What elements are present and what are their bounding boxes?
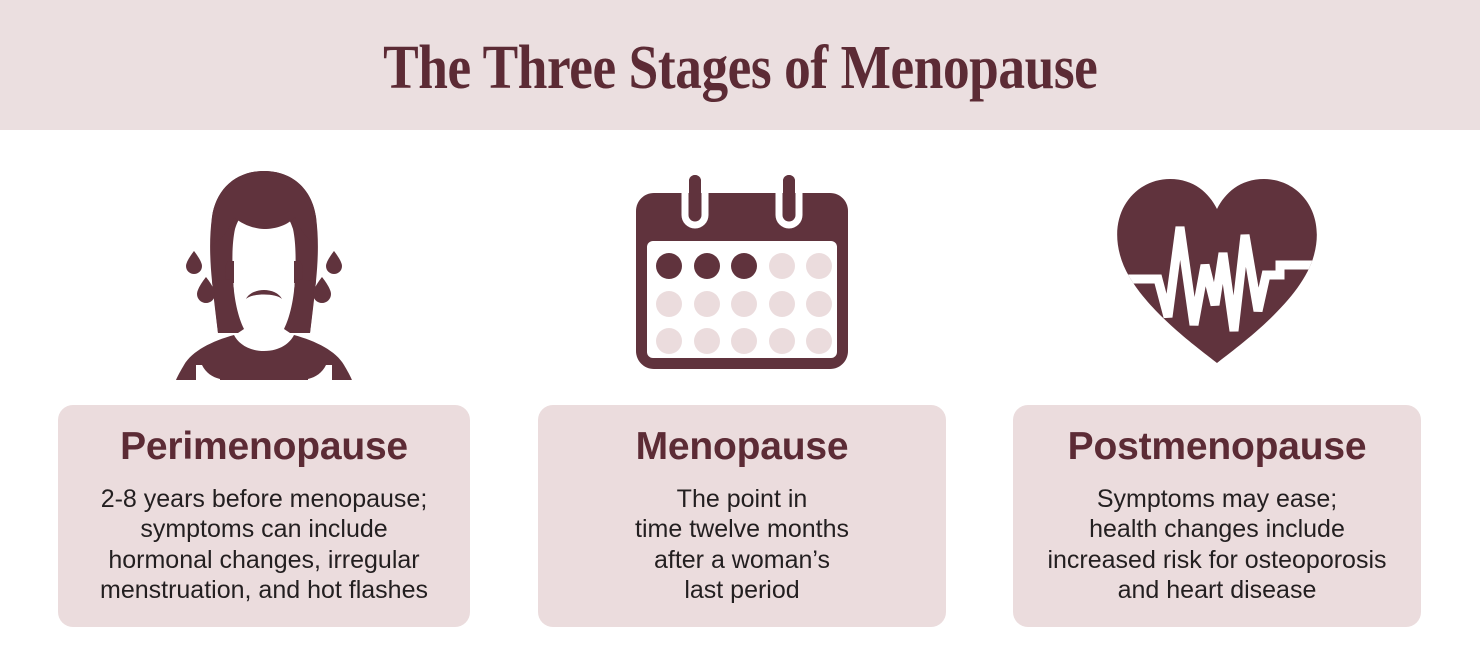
stage-card-perimenopause: Perimenopause 2-8 years before menopause… bbox=[58, 405, 470, 627]
stage-title: Menopause bbox=[636, 427, 849, 468]
stage-title: Perimenopause bbox=[120, 427, 408, 468]
stage-description: Symptoms may ease; health changes includ… bbox=[1041, 484, 1392, 606]
woman-hot-flash-icon bbox=[58, 152, 470, 392]
infographic-root: The Three Stages of Menopause bbox=[0, 0, 1480, 658]
calendar-icon bbox=[538, 152, 946, 392]
stages-container: Perimenopause 2-8 years before menopause… bbox=[0, 130, 1480, 658]
stage-column-postmenopause: Postmenopause Symptoms may ease; health … bbox=[1013, 130, 1421, 658]
header-band: The Three Stages of Menopause bbox=[0, 0, 1480, 130]
stage-column-menopause: Menopause The point in time twelve month… bbox=[538, 130, 946, 658]
page-title: The Three Stages of Menopause bbox=[383, 31, 1097, 99]
heart-ecg-icon bbox=[1013, 152, 1421, 392]
stage-column-perimenopause: Perimenopause 2-8 years before menopause… bbox=[58, 130, 470, 658]
stage-title: Postmenopause bbox=[1068, 427, 1367, 468]
stage-description: 2-8 years before menopause; symptoms can… bbox=[94, 484, 434, 606]
stage-description: The point in time twelve months after a … bbox=[629, 484, 855, 606]
stage-card-menopause: Menopause The point in time twelve month… bbox=[538, 405, 946, 627]
stage-card-postmenopause: Postmenopause Symptoms may ease; health … bbox=[1013, 405, 1421, 627]
